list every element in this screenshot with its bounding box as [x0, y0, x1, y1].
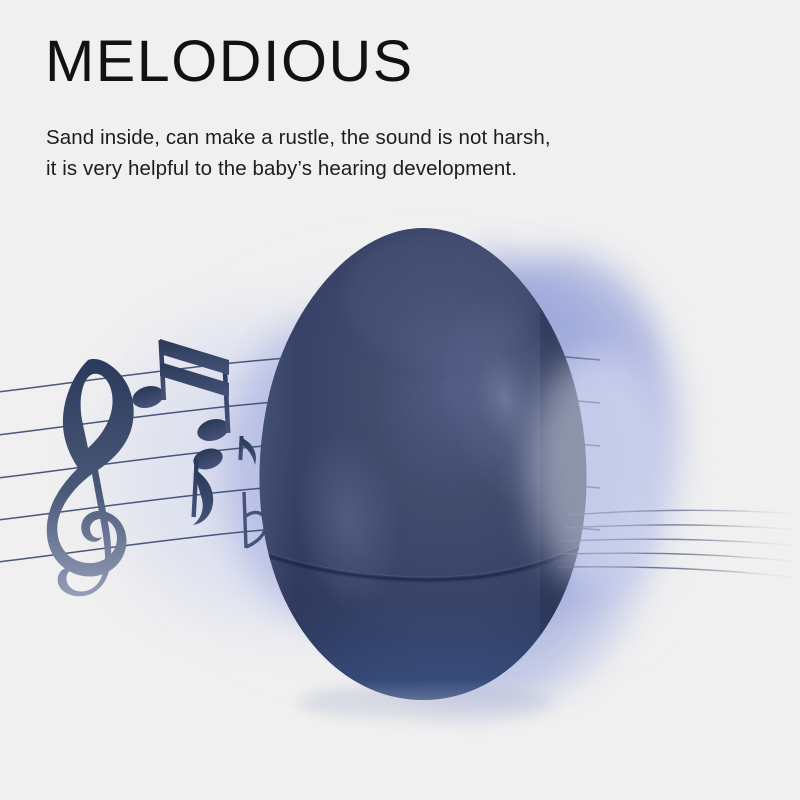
product-marketing-image: MELODIOUS Sand inside, can make a rustle… [0, 0, 800, 800]
product-artwork-stage [0, 0, 800, 800]
artwork-svg [0, 0, 800, 800]
product-description: Sand inside, can make a rustle, the soun… [46, 122, 551, 184]
page-title: MELODIOUS [45, 33, 414, 91]
description-line-1: Sand inside, can make a rustle, the soun… [46, 122, 551, 153]
right-bloom [530, 350, 670, 590]
description-line-2: it is very helpful to the baby’s hearing… [46, 153, 551, 184]
